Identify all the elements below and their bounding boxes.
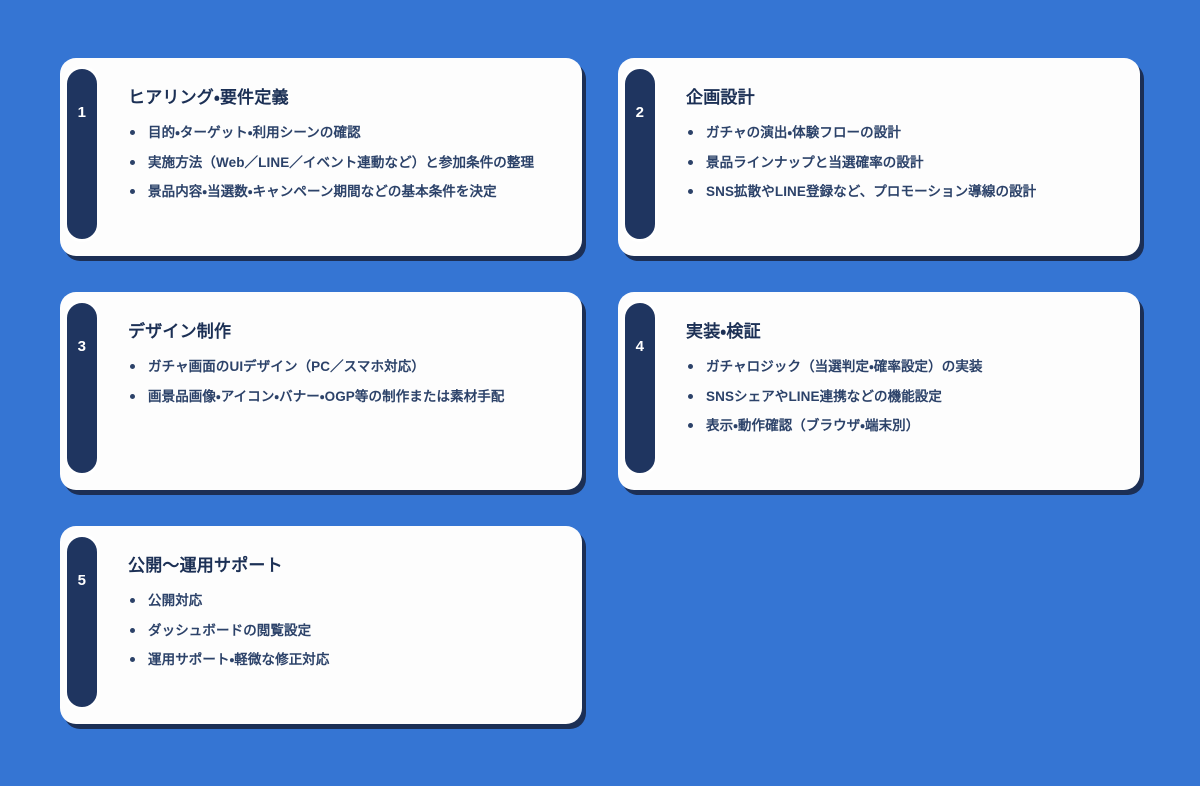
step-bullet-text: ガチャロジック（当選判定・確率設定）の実装 xyxy=(706,359,983,374)
bullet-dot-icon xyxy=(130,189,135,194)
step-bullet-text: ガチャの演出・体験フローの設計 xyxy=(706,125,901,140)
step-bullet-text: SNS拡散やLINE登録など、プロモーション導線の設計 xyxy=(706,184,1036,199)
step-bullet-item: 景品内容・当選数・キャンペーン期間などの基本条件を決定 xyxy=(128,183,556,201)
step-bullet-item: SNS拡散やLINE登録など、プロモーション導線の設計 xyxy=(686,183,1114,201)
step-card: 2企画設計ガチャの演出・体験フローの設計景品ラインナップと当選確率の設計SNS拡… xyxy=(618,58,1140,256)
step-card: 4実装・検証ガチャロジック（当選判定・確率設定）の実装SNSシェアやLINE連携… xyxy=(618,292,1140,490)
step-number-tab: 4 xyxy=(622,300,658,476)
step-bullet-item: ガチャロジック（当選判定・確率設定）の実装 xyxy=(686,358,1114,376)
step-card: 3デザイン制作ガチャ画面のUIデザイン（PC／スマホ対応）画景品画像・アイコン・… xyxy=(60,292,582,490)
step-bullet-text: 景品ラインナップと当選確率の設計 xyxy=(706,155,924,170)
step-title: 企画設計 xyxy=(686,88,1114,108)
step-bullet-item: ガチャ画面のUIデザイン（PC／スマホ対応） xyxy=(128,358,556,376)
step-number: 2 xyxy=(636,105,645,239)
step-bullet-list: ガチャの演出・体験フローの設計景品ラインナップと当選確率の設計SNS拡散やLIN… xyxy=(686,124,1114,201)
step-bullet-item: 目的・ターゲット・利用シーンの確認 xyxy=(128,124,556,142)
step-bullet-item: 景品ラインナップと当選確率の設計 xyxy=(686,154,1114,172)
bullet-dot-icon xyxy=(688,423,693,428)
step-bullet-text: 公開対応 xyxy=(148,593,202,608)
step-bullet-item: 運用サポート・軽微な修正対応 xyxy=(128,651,556,669)
bullet-dot-icon xyxy=(130,160,135,165)
step-title: デザイン制作 xyxy=(128,322,556,342)
step-bullet-item: 実施方法（Web／LINE／イベント連動など）と参加条件の整理 xyxy=(128,154,556,172)
step-bullet-item: SNSシェアやLINE連携などの機能設定 xyxy=(686,388,1114,406)
bullet-dot-icon xyxy=(688,130,693,135)
step-bullet-text: 画景品画像・アイコン・バナー・OGP等の制作または素材手配 xyxy=(148,389,505,404)
step-number-tab: 3 xyxy=(64,300,100,476)
bullet-dot-icon xyxy=(688,394,693,399)
step-title: ヒアリング・要件定義 xyxy=(128,88,556,108)
bullet-dot-icon xyxy=(688,160,693,165)
step-title: 公開～運用サポート xyxy=(128,556,556,576)
bullet-dot-icon xyxy=(688,364,693,369)
step-bullet-list: 目的・ターゲット・利用シーンの確認実施方法（Web／LINE／イベント連動など）… xyxy=(128,124,556,201)
step-number-tab: 1 xyxy=(64,66,100,242)
process-steps-board: 1ヒアリング・要件定義目的・ターゲット・利用シーンの確認実施方法（Web／LIN… xyxy=(0,0,1200,786)
step-number: 3 xyxy=(78,339,87,473)
step-bullet-text: 表示・動作確認（ブラウザ・端末別） xyxy=(706,418,919,433)
step-card: 5公開～運用サポート公開対応ダッシュボードの閲覧設定運用サポート・軽微な修正対応 xyxy=(60,526,582,724)
step-number-tab: 5 xyxy=(64,534,100,710)
bullet-dot-icon xyxy=(130,364,135,369)
bullet-dot-icon xyxy=(130,657,135,662)
step-bullet-text: SNSシェアやLINE連携などの機能設定 xyxy=(706,389,942,404)
step-number: 5 xyxy=(78,573,87,707)
step-bullet-text: ガチャ画面のUIデザイン（PC／スマホ対応） xyxy=(148,359,425,374)
step-bullet-text: 景品内容・当選数・キャンペーン期間などの基本条件を決定 xyxy=(148,184,497,199)
steps-grid: 1ヒアリング・要件定義目的・ターゲット・利用シーンの確認実施方法（Web／LIN… xyxy=(60,58,1140,724)
step-bullet-text: 目的・ターゲット・利用シーンの確認 xyxy=(148,125,361,140)
step-bullet-list: 公開対応ダッシュボードの閲覧設定運用サポート・軽微な修正対応 xyxy=(128,592,556,669)
step-bullet-item: 画景品画像・アイコン・バナー・OGP等の制作または素材手配 xyxy=(128,388,556,406)
bullet-dot-icon xyxy=(130,394,135,399)
step-bullet-text: ダッシュボードの閲覧設定 xyxy=(148,623,311,638)
bullet-dot-icon xyxy=(130,130,135,135)
bullet-dot-icon xyxy=(130,628,135,633)
step-number-tab: 2 xyxy=(622,66,658,242)
step-bullet-item: 表示・動作確認（ブラウザ・端末別） xyxy=(686,417,1114,435)
step-bullet-item: ダッシュボードの閲覧設定 xyxy=(128,622,556,640)
step-number: 1 xyxy=(78,105,87,239)
step-bullet-list: ガチャロジック（当選判定・確率設定）の実装SNSシェアやLINE連携などの機能設… xyxy=(686,358,1114,435)
step-bullet-item: ガチャの演出・体験フローの設計 xyxy=(686,124,1114,142)
bullet-dot-icon xyxy=(130,598,135,603)
bullet-dot-icon xyxy=(688,189,693,194)
step-number: 4 xyxy=(636,339,645,473)
step-bullet-item: 公開対応 xyxy=(128,592,556,610)
step-card: 1ヒアリング・要件定義目的・ターゲット・利用シーンの確認実施方法（Web／LIN… xyxy=(60,58,582,256)
step-bullet-text: 運用サポート・軽微な修正対応 xyxy=(148,652,330,667)
step-bullet-list: ガチャ画面のUIデザイン（PC／スマホ対応）画景品画像・アイコン・バナー・OGP… xyxy=(128,358,556,405)
step-bullet-text: 実施方法（Web／LINE／イベント連動など）と参加条件の整理 xyxy=(148,155,534,170)
step-title: 実装・検証 xyxy=(686,322,1114,342)
